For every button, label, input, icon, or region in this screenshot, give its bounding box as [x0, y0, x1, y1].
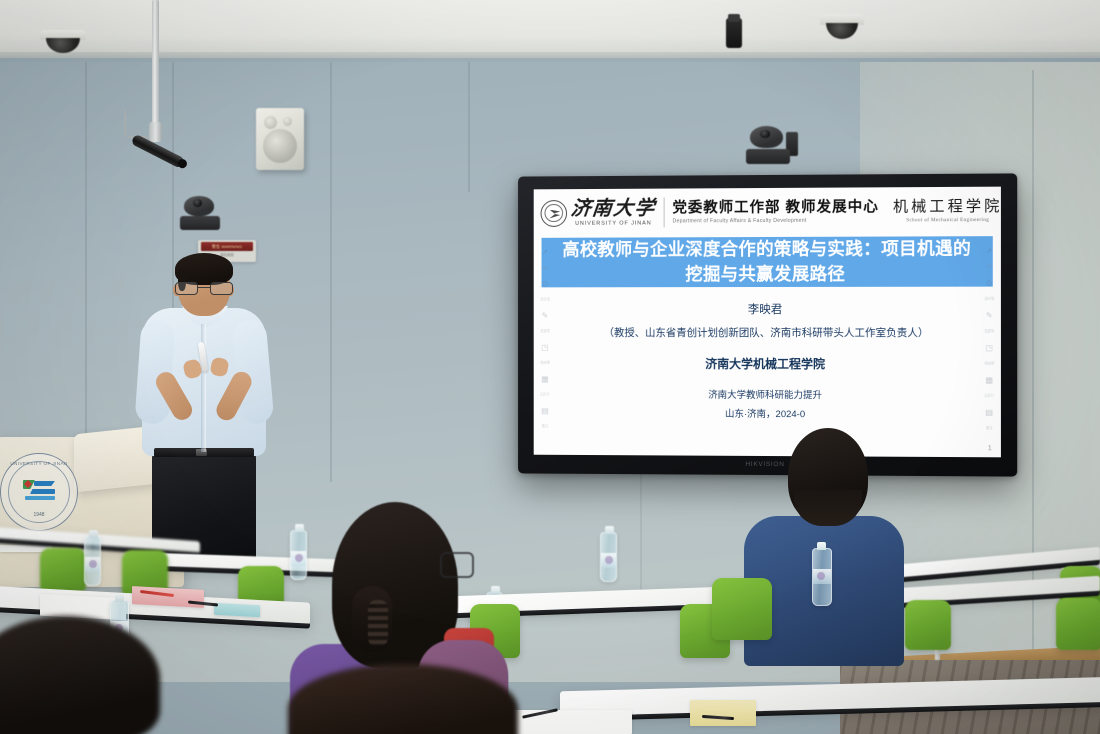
department-block: 党委教师工作部 教师发展中心 Department of Faculty Aff… — [673, 199, 879, 224]
hair-clip — [368, 600, 388, 646]
pointer-icon[interactable]: ➚ — [984, 245, 995, 256]
lectern-seal-arc-text: UNIVERSITY OF JINAN — [1, 461, 77, 466]
chair-mid-right-a — [905, 600, 951, 650]
school-name-en: School of Mechanical Engineering — [893, 217, 1001, 224]
presenter-toolbar-label: 激光笔 — [984, 296, 994, 301]
lectern-seal-year: 1948 — [1, 512, 77, 518]
ceiling — [0, 0, 1100, 58]
water-bottle — [84, 536, 101, 586]
lectern-university-seal-icon: UNIVERSITY OF JINAN 1948 — [0, 453, 78, 531]
presenter-hair — [175, 253, 233, 285]
presenter-toolbar-label: 指针 — [986, 263, 993, 268]
attendee-glasses-icon — [440, 552, 474, 578]
chair-back-left — [40, 548, 86, 592]
slide-page-number: 1 — [988, 445, 992, 452]
slide-title-line2: 挖掘与共赢发展路径 — [562, 261, 971, 287]
presenter-toolbar-right[interactable]: ➚ 指针 ⊙ 激光笔 ✎ 墨迹笔 ◳ 橡皮擦 ▦ 幻灯片 ▤ 备注 — [982, 245, 997, 430]
presenter-toolbar-left[interactable]: ➚ 指针 ⊙ 激光笔 ✎ 墨迹笔 ◳ 橡皮擦 ▦ 幻灯片 ▤ 备注 — [538, 247, 553, 428]
attendee-head — [0, 616, 160, 734]
ptz-camera-left-icon — [180, 196, 220, 230]
presenter-toolbar-label: 墨迹笔 — [540, 328, 549, 333]
presenter-toolbar-label: 橡皮擦 — [540, 360, 549, 365]
department-name-cn: 党委教师工作部 教师发展中心 — [673, 199, 879, 216]
pen-icon[interactable]: ✎ — [984, 310, 995, 321]
notes-icon[interactable]: ▤ — [540, 405, 551, 416]
university-seal-icon — [541, 200, 567, 227]
pointer-icon[interactable]: ➚ — [540, 247, 551, 258]
laser-icon[interactable]: ⊙ — [540, 278, 551, 289]
presenter-toolbar-label: 幻灯片 — [540, 391, 549, 396]
presenter-toolbar-label: 幻灯片 — [984, 393, 994, 398]
eraser-icon[interactable]: ◳ — [984, 342, 995, 353]
pen-icon[interactable]: ✎ — [540, 310, 551, 321]
presenter-toolbar-label: 指针 — [542, 265, 548, 270]
water-bottle — [812, 548, 832, 606]
university-name-cn: 济南大学 — [570, 199, 657, 220]
school-block: 机械工程学院 School of Mechanical Engineering — [893, 199, 1001, 224]
presenter-glasses-icon — [175, 282, 233, 295]
attendee-front-right — [288, 664, 518, 734]
slide-presenter-name: 李映君 — [534, 301, 1001, 317]
wall-panel-seam — [85, 62, 87, 482]
thumbnails-icon[interactable]: ▦ — [984, 374, 995, 385]
wall-panel-seam — [640, 470, 642, 590]
university-wordmark: 济南大学 UNIVERSITY OF JINAN — [571, 199, 656, 227]
slide-screen[interactable]: 济南大学 UNIVERSITY OF JINAN 党委教师工作部 教师发展中心 … — [534, 187, 1001, 458]
presenter-toolbar-label: 备注 — [986, 425, 993, 430]
presenter-toolbar-label: 墨迹笔 — [984, 328, 994, 333]
chair-behind-blue-attendee — [712, 578, 772, 640]
university-name-en: UNIVERSITY OF JINAN — [571, 220, 656, 226]
presenter-toolbar-label: 备注 — [542, 423, 548, 428]
handout-cyan — [214, 603, 260, 617]
microphone-joint — [149, 122, 162, 142]
attendee-front-left — [0, 616, 170, 734]
slide-title: 高校教师与企业深度合作的策略与实践：项目机遇的 挖掘与共赢发展路径 — [558, 236, 975, 287]
slide-title-line1: 高校教师与企业深度合作的策略与实践：项目机遇的 — [562, 236, 971, 262]
thumbnails-icon[interactable]: ▦ — [540, 374, 551, 385]
slide-affiliation: 济南大学机械工程学院 — [534, 355, 1001, 373]
school-name-cn: 机械工程学院 — [893, 199, 1001, 217]
presenter-toolbar-label: 激光笔 — [540, 296, 549, 301]
department-name-en: Department of Faculty Affairs & Faculty … — [673, 217, 879, 224]
notes-icon[interactable]: ▤ — [984, 407, 995, 418]
wall-panel-seam — [468, 62, 470, 192]
water-bottle — [600, 532, 617, 582]
handout-yellow — [690, 700, 756, 726]
attendee-head — [288, 664, 518, 734]
wall-speaker-icon — [256, 108, 304, 170]
slide-title-band: 高校教师与企业深度合作的策略与实践：项目机遇的 挖掘与共赢发展路径 — [542, 236, 993, 287]
slide-event-line1: 济南大学教师科研能力提升 — [534, 385, 1001, 405]
slide-presenter-title: （教授、山东省青创计划创新团队、济南市科研带头人工作室负责人） — [534, 324, 1001, 343]
warning-sign-title: 警告 WARNING — [201, 242, 253, 251]
presenter-person — [140, 258, 268, 558]
slide-event-line2: 山东·济南，2024-0 — [534, 404, 1001, 425]
slide-header: 济南大学 UNIVERSITY OF JINAN 党委教师工作部 教师发展中心 … — [534, 187, 1001, 237]
slide-event: 济南大学教师科研能力提升 山东·济南，2024-0 — [534, 385, 1001, 425]
presenter-toolbar-label: 橡皮擦 — [984, 360, 994, 365]
chair-mid-right-b — [1056, 598, 1100, 650]
eraser-icon[interactable]: ◳ — [540, 342, 551, 353]
ceiling-sensor-icon — [726, 18, 742, 48]
laser-icon[interactable]: ⊙ — [984, 278, 995, 289]
wall-panel-seam — [330, 62, 332, 482]
header-divider — [664, 198, 665, 228]
ptz-camera-right-icon — [746, 126, 790, 164]
microphone-pole — [152, 0, 159, 128]
classroom-scene: 警告 WARNING 高压危险 济南大学 UNIVERSITY OF JINAN… — [0, 0, 1100, 734]
